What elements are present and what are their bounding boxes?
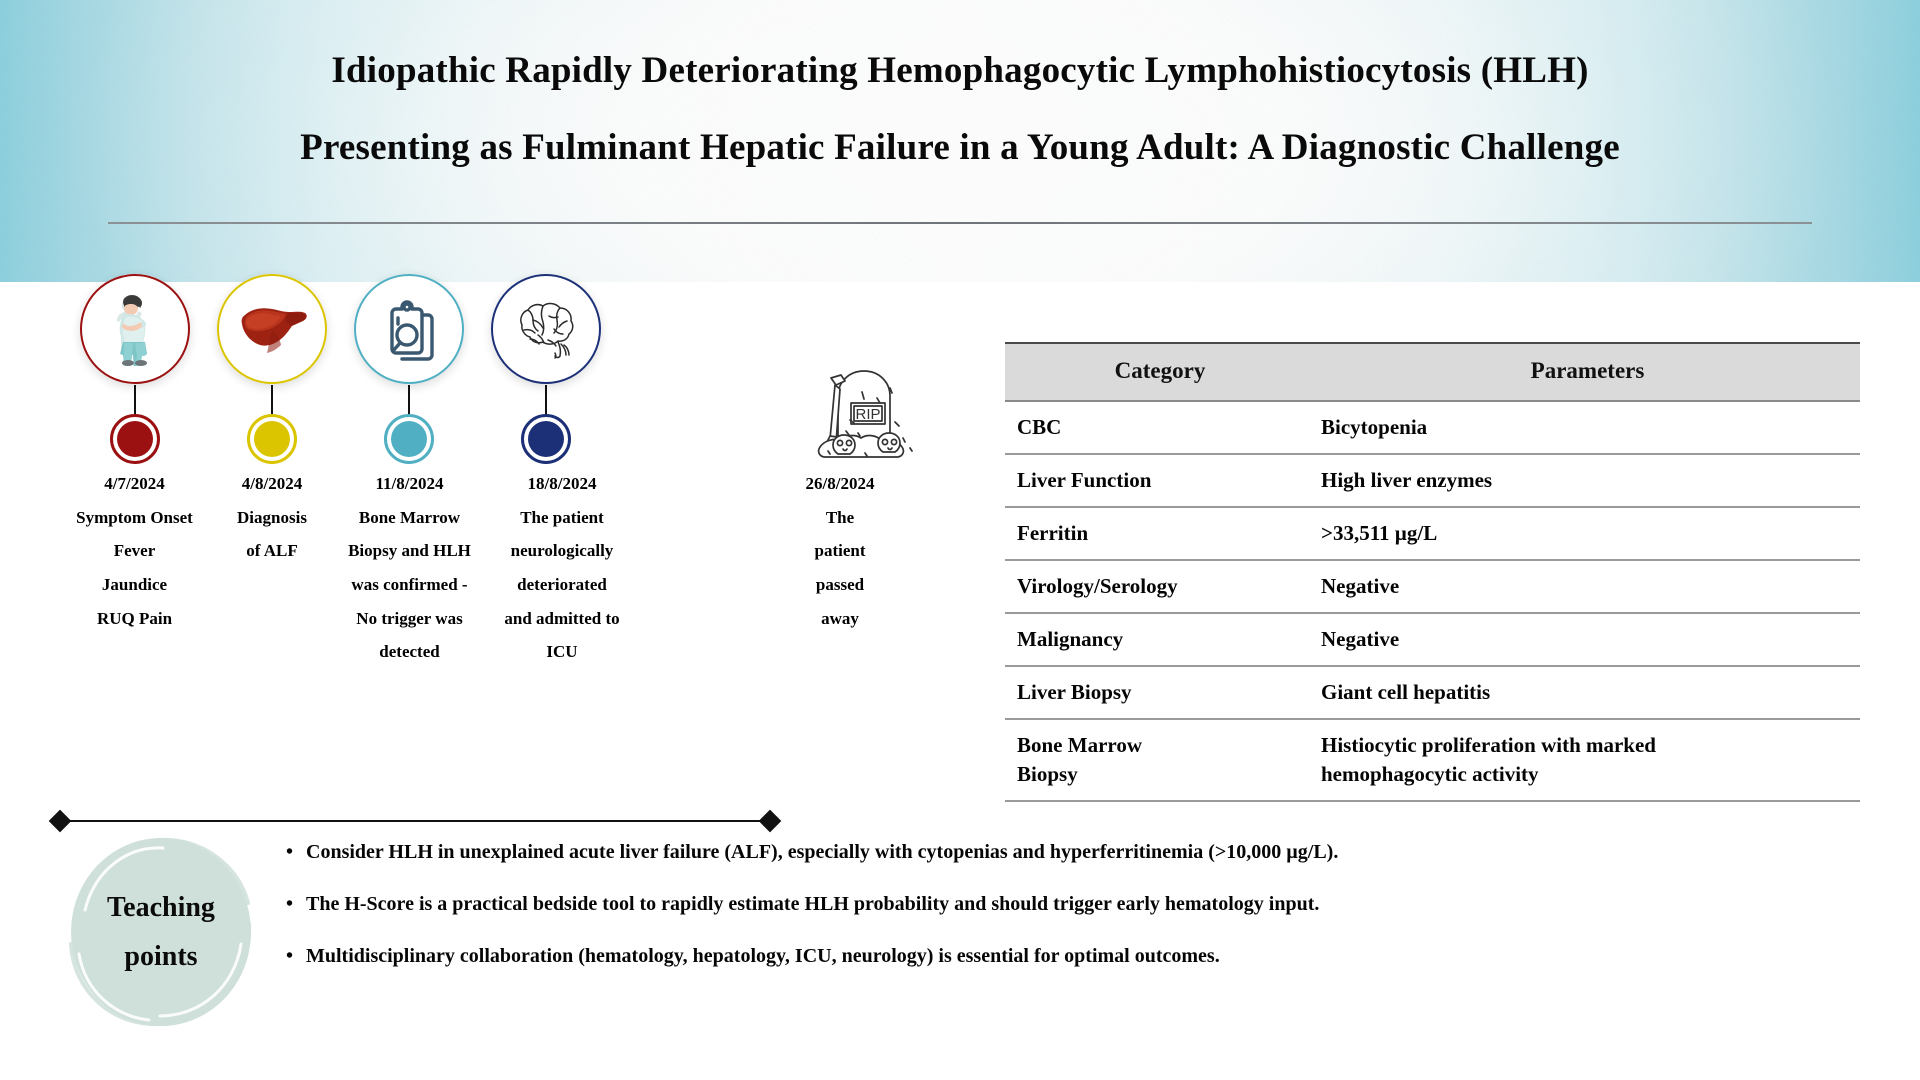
table-row: MalignancyNegative — [1005, 613, 1860, 666]
timeline-node-4[interactable] — [521, 414, 571, 464]
timeline-caption-5: 26/8/2024 Thepatientpassedaway — [775, 467, 905, 635]
column-header-parameters: Parameters — [1315, 343, 1860, 401]
teaching-point: •Multidisciplinary collaboration (hemato… — [286, 944, 1866, 969]
table-header-row: Category Parameters — [1005, 343, 1860, 401]
poster-title: Idiopathic Rapidly Deteriorating Hemopha… — [0, 0, 1920, 282]
teaching-point: •Consider HLH in unexplained acute liver… — [286, 840, 1866, 865]
timeline-node-2[interactable] — [247, 414, 297, 464]
table-row: Liver BiopsyGiant cell hepatitis — [1005, 666, 1860, 719]
node-core-4 — [528, 421, 564, 457]
title-line-1: Idiopathic Rapidly Deteriorating Hemopha… — [331, 52, 1588, 89]
teaching-badge-text: Teaching points — [107, 883, 215, 981]
teaching-points-list: •Consider HLH in unexplained acute liver… — [286, 840, 1866, 996]
cell-parameters: Bicytopenia — [1315, 401, 1860, 454]
table-row: Virology/SerologyNegative — [1005, 560, 1860, 613]
timeline-node-3[interactable] — [384, 414, 434, 464]
teaching-badge-line1: Teaching — [107, 892, 215, 923]
cell-category: Liver Function — [1005, 454, 1315, 507]
timeline-date-4: 18/8/2024 — [478, 467, 646, 501]
bullet-glyph: • — [286, 840, 306, 865]
timeline-date-3: 11/8/2024 — [322, 467, 497, 501]
timeline-node-1[interactable] — [110, 414, 160, 464]
node-core-1 — [117, 421, 153, 457]
cell-parameters: High liver enzymes — [1315, 454, 1860, 507]
brain-icon — [508, 298, 584, 360]
investigations-table: Category Parameters CBCBicytopeniaLiver … — [1005, 342, 1860, 802]
cell-parameters: Giant cell hepatitis — [1315, 666, 1860, 719]
column-header-category: Category — [1005, 343, 1315, 401]
table-row: Bone MarrowBiopsyHistiocytic proliferati… — [1005, 719, 1860, 801]
cell-category: Malignancy — [1005, 613, 1315, 666]
timeline-icon-bubble-2[interactable] — [217, 274, 327, 384]
teaching-points-badge: Teaching points — [55, 832, 267, 1032]
timeline-desc-5: Thepatientpassedaway — [775, 501, 905, 636]
cell-parameters: Histiocytic proliferation with markedhem… — [1315, 719, 1860, 801]
investigations-table-wrap: Category Parameters CBCBicytopeniaLiver … — [1005, 342, 1860, 802]
cell-category: Liver Biopsy — [1005, 666, 1315, 719]
timeline-icon-bubble-4[interactable] — [491, 274, 601, 384]
timeline-icon-bubble-1[interactable] — [80, 274, 190, 384]
teaching-point-text: Consider HLH in unexplained acute liver … — [306, 840, 1338, 865]
cell-parameters: >33,511 µg/L — [1315, 507, 1860, 560]
title-divider — [108, 222, 1812, 224]
node-core-3 — [391, 421, 427, 457]
cell-category: Virology/Serology — [1005, 560, 1315, 613]
teaching-point-text: Multidisciplinary collaboration (hematol… — [306, 944, 1220, 969]
cell-category: CBC — [1005, 401, 1315, 454]
case-timeline: 4/7/2024 Symptom OnsetFeverJaundiceRUQ P… — [0, 282, 1000, 802]
teaching-point: •The H-Score is a practical bedside tool… — [286, 892, 1866, 917]
bullet-glyph: • — [286, 944, 306, 969]
liver-icon — [236, 299, 308, 359]
teaching-points-section: Teaching points •Consider HLH in unexpla… — [0, 818, 1920, 1058]
patient-abdominal-pain-icon — [105, 292, 165, 366]
table-row: Liver FunctionHigh liver enzymes — [1005, 454, 1860, 507]
timeline-date-5: 26/8/2024 — [775, 467, 905, 501]
poster-header: Idiopathic Rapidly Deteriorating Hemopha… — [0, 0, 1920, 282]
timeline-caption-3: 11/8/2024 Bone MarrowBiopsy and HLHwas c… — [322, 467, 497, 669]
cell-category: Bone MarrowBiopsy — [1005, 719, 1315, 801]
bullet-glyph: • — [286, 892, 306, 917]
timeline-desc-3: Bone MarrowBiopsy and HLHwas confirmed -… — [322, 501, 497, 669]
tombstone-rip-icon: RIP — [800, 350, 930, 480]
table-row: CBCBicytopenia — [1005, 401, 1860, 454]
table-header: Category Parameters — [1005, 343, 1860, 401]
table-row: Ferritin>33,511 µg/L — [1005, 507, 1860, 560]
teaching-point-text: The H-Score is a practical bedside tool … — [306, 892, 1319, 917]
title-line-2: Presenting as Fulminant Hepatic Failure … — [300, 129, 1620, 166]
node-core-2 — [254, 421, 290, 457]
timeline-icon-bubble-3[interactable] — [354, 274, 464, 384]
clipboard-magnifier-icon — [376, 295, 442, 363]
timeline-caption-4: 18/8/2024 The patientneurologicallydeter… — [478, 467, 646, 669]
cell-parameters: Negative — [1315, 560, 1860, 613]
timeline-desc-4: The patientneurologicallydeterioratedand… — [478, 501, 646, 669]
table-body: CBCBicytopeniaLiver FunctionHigh liver e… — [1005, 401, 1860, 801]
cell-category: Ferritin — [1005, 507, 1315, 560]
teaching-badge-line2: points — [124, 941, 197, 972]
timeline-icon-bubble-5[interactable]: RIP — [800, 350, 930, 485]
svg-text:RIP: RIP — [855, 406, 880, 423]
cell-parameters: Negative — [1315, 613, 1860, 666]
